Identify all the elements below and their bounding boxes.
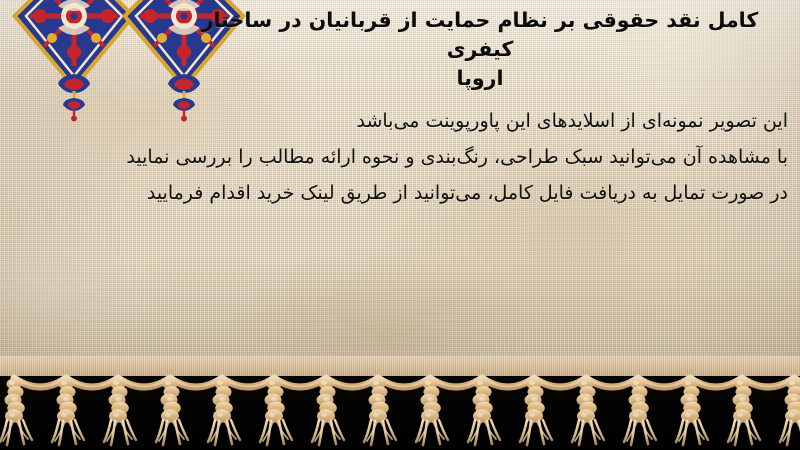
slide-title-line-2: اروپا [457, 66, 504, 90]
slide-canvas: کامل نقد حقوقی بر نظام حمایت از قربانیان… [0, 0, 800, 450]
slide-body-text: این تصویر نمونه‌ای از اسلایدهای این پاور… [2, 112, 788, 203]
body-line-1: این تصویر نمونه‌ای از اسلایدهای این پاور… [2, 112, 788, 131]
body-line-2: با مشاهده آن می‌توانید سبک طراحی، رنگ‌بن… [2, 148, 788, 167]
carpet-fringe-tassels [0, 354, 800, 450]
body-line-3: در صورت تمایل به دریافت فایل کامل، می‌تو… [2, 184, 788, 203]
slide-title-line-1: کامل نقد حقوقی بر نظام حمایت از قربانیان… [202, 8, 759, 61]
slide-title: کامل نقد حقوقی بر نظام حمایت از قربانیان… [168, 6, 792, 93]
